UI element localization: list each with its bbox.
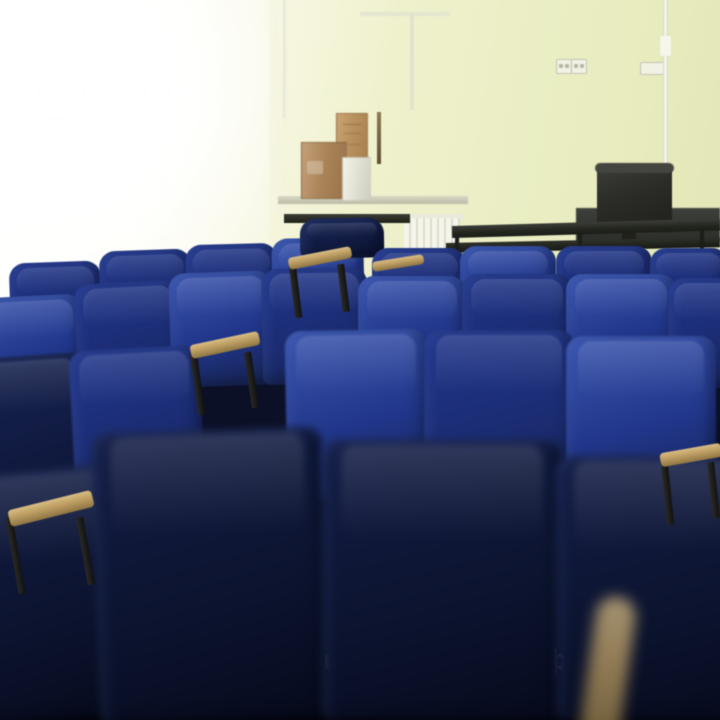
seat-highlight	[0, 299, 75, 340]
seat-highlight	[564, 251, 645, 277]
auditorium-seat	[322, 440, 562, 720]
seat-highlight	[471, 279, 563, 317]
seat-highlight	[367, 281, 458, 319]
cardboard-box-wide-icon	[301, 142, 347, 199]
seat-highlight	[110, 432, 307, 537]
seat-highlight	[436, 335, 562, 393]
seat-highlight	[574, 461, 720, 551]
seat-highlight	[79, 350, 191, 407]
seat-highlight	[575, 279, 667, 317]
seat-highlight	[674, 283, 720, 320]
seat-highlight	[296, 334, 416, 394]
seat-highlight	[468, 251, 549, 277]
auditorium-seat	[556, 456, 720, 720]
white-carton-icon	[342, 157, 371, 201]
wall-pipe-joint	[660, 36, 671, 56]
seat-highlight	[306, 222, 377, 237]
seat-highlight	[0, 357, 78, 415]
seat-highlight	[341, 445, 543, 540]
video-frame: Здесь отремонтированы кровля и фасад, за…	[0, 0, 720, 720]
seat-highlight	[82, 285, 175, 328]
wall-socket-right	[571, 59, 587, 74]
office-chair-headrest	[595, 163, 674, 173]
wooden-rod	[377, 112, 381, 164]
auditorium-seat	[91, 426, 331, 720]
window-frame-horizontal	[360, 12, 450, 16]
window-mullion	[410, 14, 414, 110]
window-frame-vertical	[283, 0, 288, 118]
seat-highlight	[578, 341, 704, 398]
wall-socket-left	[556, 59, 572, 74]
auditorium-photo	[0, 0, 720, 720]
seat-highlight	[177, 276, 266, 318]
